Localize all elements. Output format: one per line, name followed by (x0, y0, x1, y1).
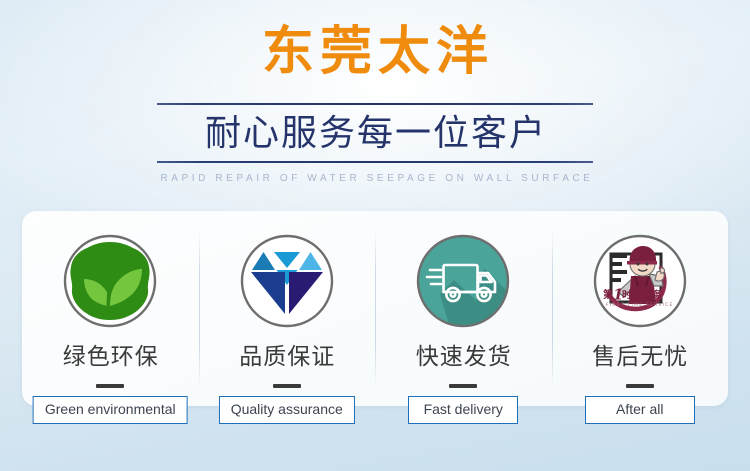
feature-en-label[interactable]: After all (585, 396, 695, 424)
feature-card-quality-assurance[interactable]: 品质保证 Quality assurance (199, 211, 376, 436)
promo-banner: 东莞太洋 耐心服务每一位客户 RAPID REPAIR OF WATER SEE… (0, 0, 750, 471)
feature-cn-label: 快速发货 (375, 342, 552, 372)
feature-cn-label: 品质保证 (199, 342, 376, 372)
title-rule-top (157, 103, 593, 105)
label-divider-dash (449, 384, 477, 388)
svg-text:FIRST TIME SERVICE: FIRST TIME SERVICE (606, 302, 674, 308)
label-divider-dash (273, 384, 301, 388)
feature-cn-label: 售后无忧 (552, 342, 729, 372)
svg-text:时间: 时间 (622, 289, 641, 301)
main-title: 东莞太洋 (0, 26, 750, 78)
feature-en-label[interactable]: Fast delivery (408, 396, 518, 424)
feature-card-after-sales[interactable]: 第 1 时间 服务 FIRST TIME SERVICE 售后无忧 After … (552, 211, 729, 436)
svg-text:第: 第 (603, 288, 613, 301)
feature-card-green-environmental[interactable]: 绿色环保 Green environmental (22, 211, 199, 436)
feature-card-fast-delivery[interactable]: 快速发货 Fast delivery (375, 211, 552, 436)
feature-cn-label: 绿色环保 (22, 342, 199, 372)
features-list: 绿色环保 Green environmental 品质保证 Quality as… (22, 211, 728, 436)
feature-en-label[interactable]: Quality assurance (219, 396, 355, 424)
feature-en-label[interactable]: Green environmental (33, 396, 188, 424)
delivery-truck-icon (414, 232, 512, 330)
english-tagline: RAPID REPAIR OF WATER SEEPAGE ON WALL SU… (0, 172, 750, 186)
first-time-service-mascot-icon: 第 1 时间 服务 FIRST TIME SERVICE (591, 232, 689, 330)
sub-title: 耐心服务每一位客户 (0, 111, 750, 157)
svg-text:服务: 服务 (643, 289, 663, 301)
label-divider-dash (626, 384, 654, 388)
banner-header: 东莞太洋 耐心服务每一位客户 RAPID REPAIR OF WATER SEE… (0, 0, 750, 205)
title-rule-bottom (157, 161, 593, 163)
green-leaf-icon (61, 232, 159, 330)
label-divider-dash (96, 384, 124, 388)
diamond-gem-icon (238, 232, 336, 330)
